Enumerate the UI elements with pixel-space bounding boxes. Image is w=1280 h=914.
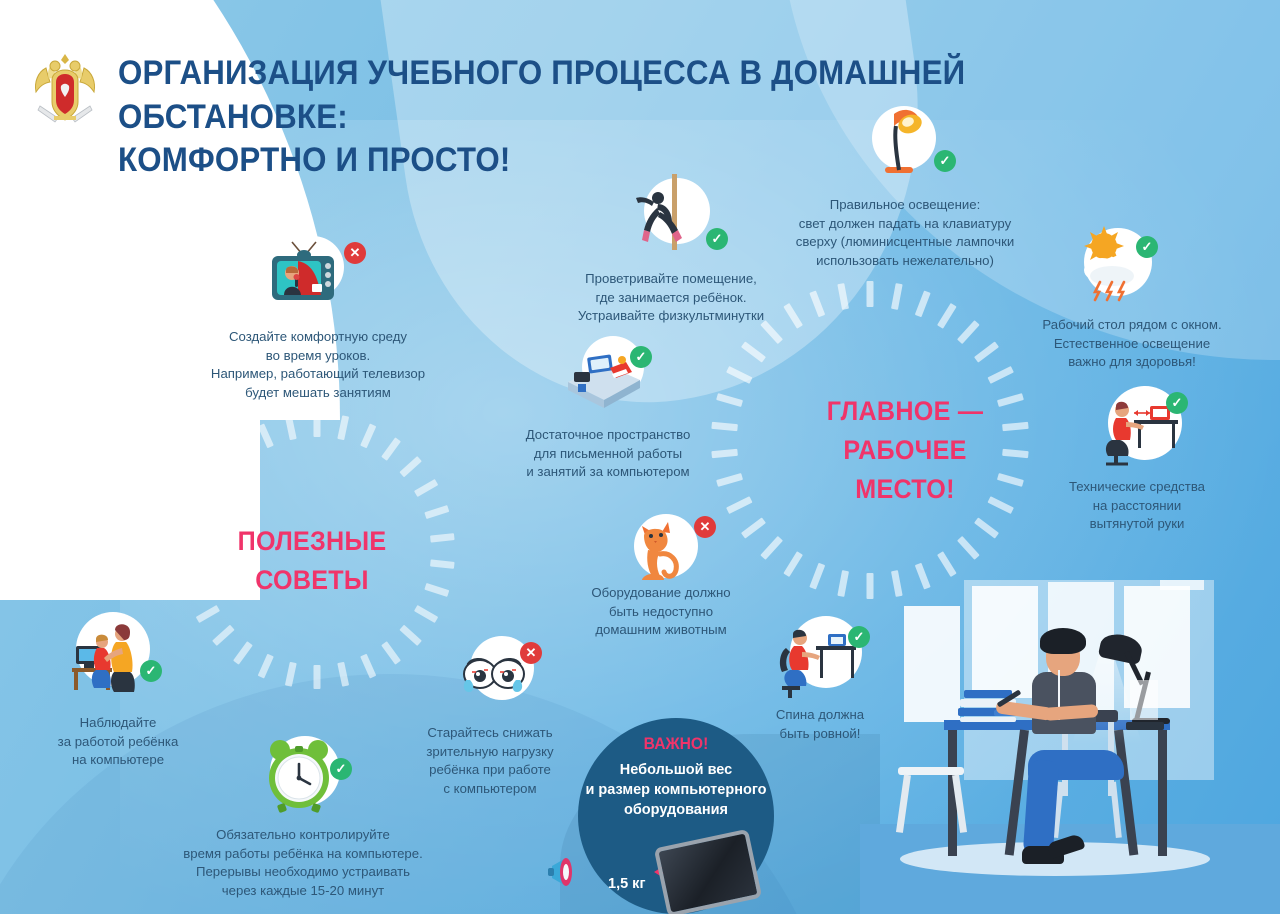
teen-studying-illustration [860, 560, 1280, 914]
badge-not-recommended: ✕ [694, 516, 716, 538]
badge-recommended: ✓ [706, 228, 728, 250]
tip-proper-lighting-text: Правильное освещение: свет должен падать… [760, 196, 1050, 271]
tip-equipment-arm-length-text: Технические средства на расстоянии вытян… [1042, 478, 1232, 534]
infographic-poster: Организация учебного процесса в домашней… [0, 0, 1280, 914]
tip-screen-time-control-text: Обязательно контролируйте время работы р… [148, 826, 458, 901]
badge-recommended: ✓ [934, 150, 956, 172]
russian-federation-coat-of-arms [28, 50, 102, 134]
tip-desk-near-window-text: Рабочий стол рядом с окном. Естественное… [1002, 316, 1262, 372]
laptop [1126, 680, 1162, 724]
tired-eyes-icon: ✕ [448, 628, 540, 720]
tv-icon: ✕ [258, 228, 350, 320]
tip-tv-distraction-text: Создайте комфортную среду во время уроко… [158, 328, 478, 403]
badge-recommended: ✓ [1166, 392, 1188, 414]
badge-recommended: ✓ [140, 660, 162, 682]
badge-recommended: ✓ [330, 758, 352, 780]
tip-reduce-eye-strain-text: Старайтесь снижать зрительную нагрузку р… [400, 724, 580, 799]
badge-recommended: ✓ [630, 346, 652, 368]
tip-pets-away-text: Оборудование должно быть недоступно дома… [556, 584, 766, 640]
badge-not-recommended: ✕ [520, 642, 542, 664]
badge-recommended: ✓ [1136, 236, 1158, 258]
parent-supervising-icon: ✓ [62, 608, 154, 700]
tip-supervise-child-text: Наблюдайте за работой ребёнка на компьют… [18, 714, 218, 770]
heading-useful-tips: Полезные советы [219, 522, 405, 600]
badge-recommended: ✓ [848, 626, 870, 648]
stool [898, 767, 964, 775]
alarm-clock-icon: ✓ [254, 730, 346, 822]
desk-workspace-icon: ✓ [558, 330, 650, 422]
stretching-person-icon: ✓ [624, 172, 716, 264]
tip-ventilation-exercise-text: Проветривайте помещение, где занимается … [546, 270, 796, 326]
heading-main-workspace: Главное — рабочее место! [798, 392, 1012, 509]
person-hair [1040, 628, 1086, 654]
desk-measure-icon: ✓ [1094, 380, 1186, 472]
badge-not-recommended: ✕ [344, 242, 366, 264]
sitting-posture-icon: ✓ [772, 612, 864, 704]
important-body: Небольшой вес и размер компьютерного обо… [560, 760, 792, 820]
megaphone-icon [548, 852, 604, 892]
tablet-weight-label: 1,5 кг [608, 876, 645, 892]
sun-cloud-icon: ✓ [1064, 218, 1156, 310]
desk-lamp-icon: ✓ [852, 92, 944, 184]
important-label: Важно! [586, 734, 766, 754]
tip-enough-space-text: Достаточное пространство для письменной … [488, 426, 728, 482]
person-torso [1032, 672, 1096, 734]
page-title-line-1: Организация учебного процесса в домашней… [118, 52, 1093, 139]
